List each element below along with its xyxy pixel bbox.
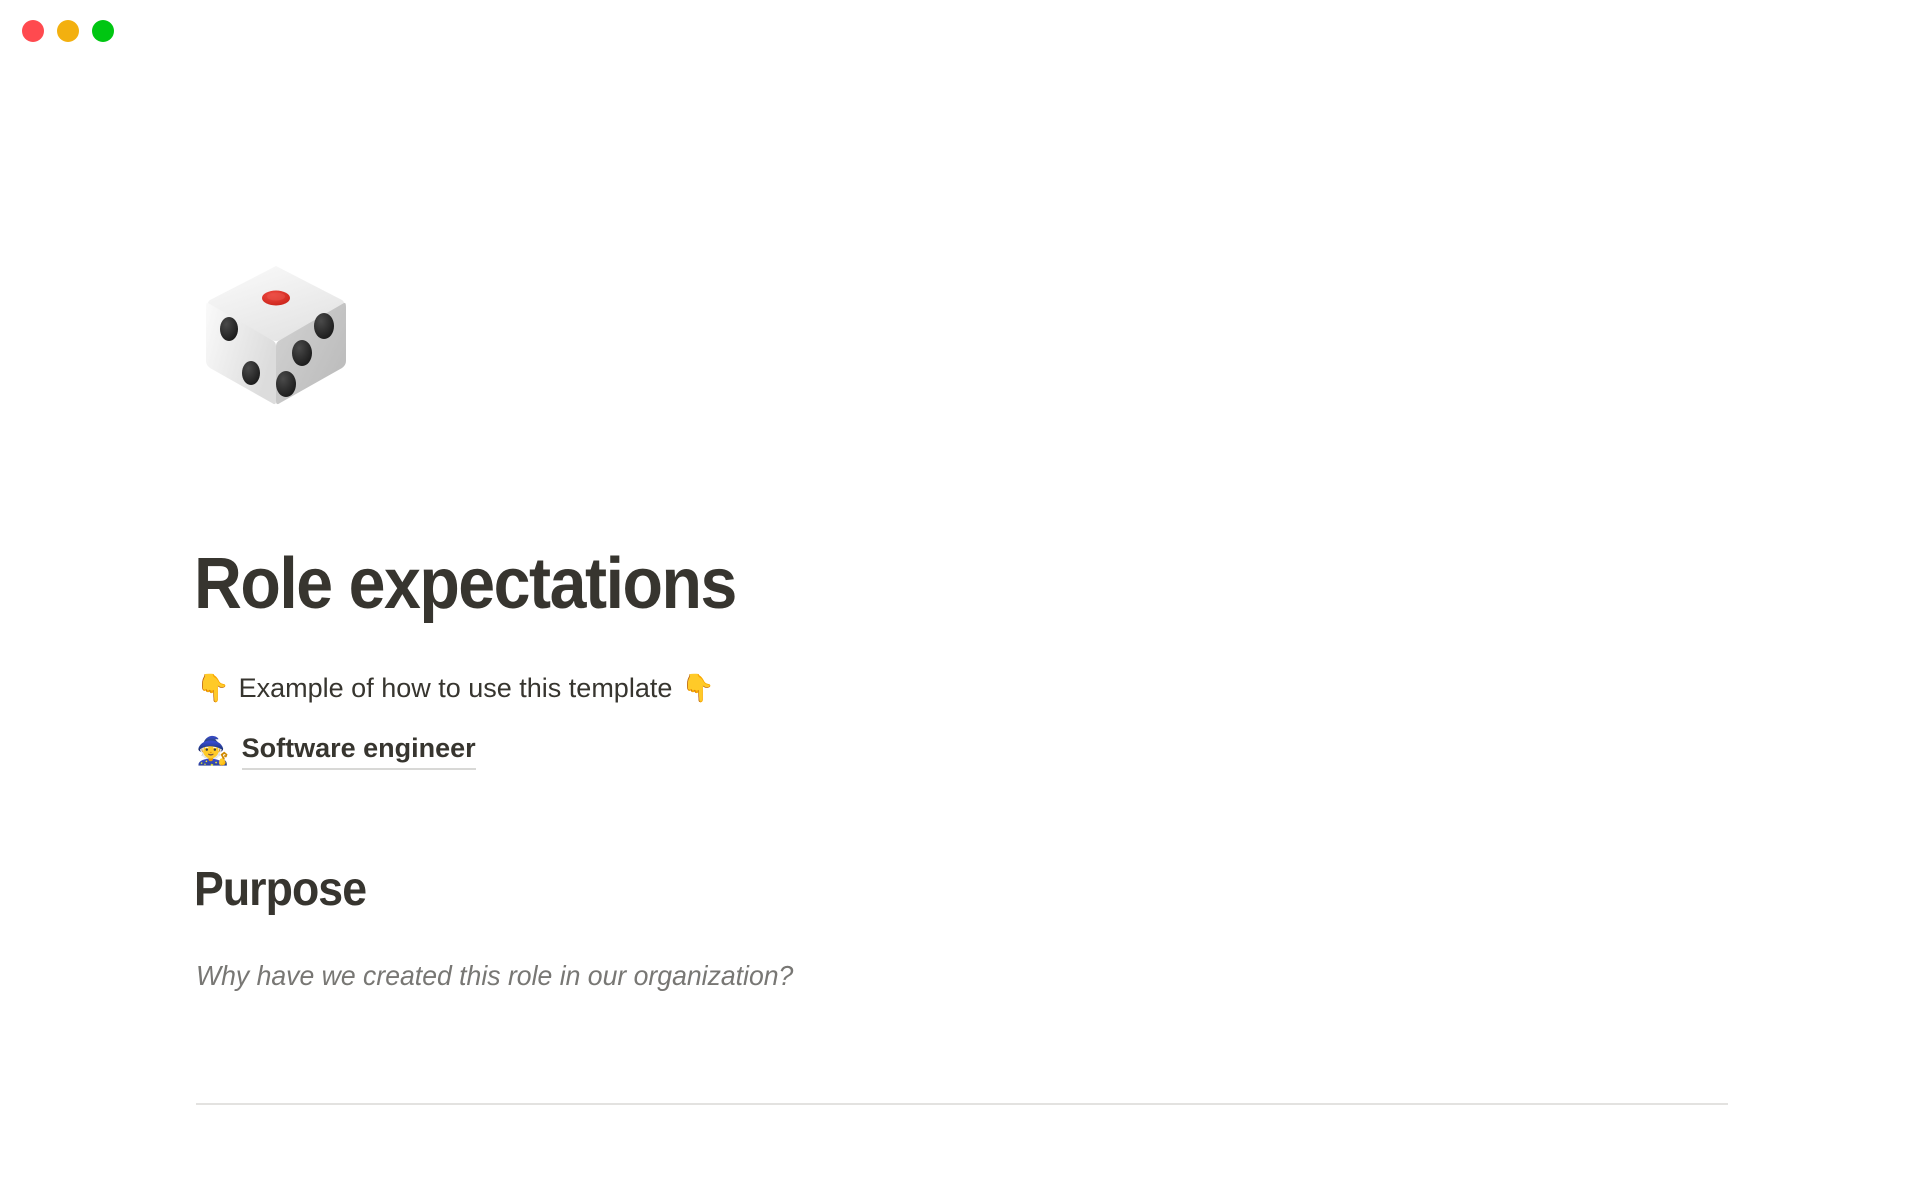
window-titlebar [0, 0, 1920, 62]
section-heading-purpose[interactable]: Purpose [194, 862, 366, 917]
maximize-window-button[interactable] [92, 20, 114, 42]
page-subtitle-text: Example of how to use this template [239, 669, 673, 708]
page-link-software-engineer[interactable]: 🧙 Software engineer [196, 732, 476, 770]
close-window-button[interactable] [22, 20, 44, 42]
document-page: Role expectations 👇 Example of how to us… [0, 62, 1920, 1200]
mage-icon: 🧙 [196, 735, 230, 767]
minimize-window-button[interactable] [57, 20, 79, 42]
pointing-down-icon-left: 👇 [196, 669, 230, 708]
section-divider [196, 1103, 1728, 1105]
pointing-down-icon-right: 👇 [681, 669, 715, 708]
page-subtitle[interactable]: 👇 Example of how to use this template 👇 [196, 669, 715, 708]
section-caption-purpose[interactable]: Why have we created this role in our org… [196, 960, 793, 992]
page-title[interactable]: Role expectations [194, 546, 736, 624]
dice-icon[interactable] [196, 256, 356, 416]
page-link-label[interactable]: Software engineer [242, 732, 476, 770]
traffic-light-controls [22, 20, 114, 42]
